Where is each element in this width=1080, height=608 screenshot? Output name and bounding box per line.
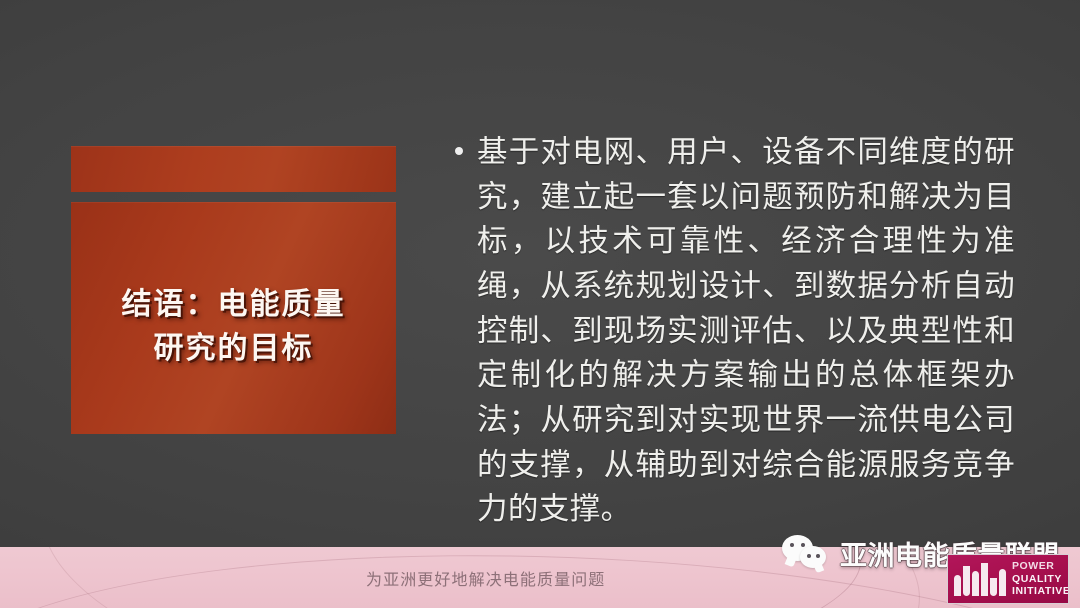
pqi-logo-wordmark: POWER QUALITY INITIATIVE — [1012, 560, 1069, 598]
presentation-slide: 结语：电能质量 研究的目标 基于对电网、用户、设备不同维度的研究，建立起一套以问… — [0, 0, 1080, 608]
slide-title: 结语：电能质量 研究的目标 — [112, 283, 356, 372]
wechat-eye — [790, 543, 794, 547]
power-quality-waveform-icon — [953, 562, 1009, 596]
bullet-dot-icon — [455, 147, 463, 155]
pqi-word-initiative: INITIATIVE — [1012, 585, 1069, 598]
wechat-eye — [816, 554, 820, 558]
wechat-eye — [801, 543, 805, 547]
title-plate: 结语：电能质量 研究的目标 — [71, 146, 396, 434]
content-bullet-block: 基于对电网、用户、设备不同维度的研究，建立起一套以问题预防和解决为目标，以技术可… — [455, 130, 1015, 532]
pqi-word-quality: QUALITY — [1012, 573, 1069, 586]
footer-tagline: 为亚洲更好地解决电能质量问题 — [366, 566, 605, 590]
wechat-bubble-small — [800, 546, 826, 568]
pqi-word-power: POWER — [1012, 560, 1069, 573]
pqi-logo-badge: POWER QUALITY INITIATIVE — [947, 554, 1069, 604]
title-plate-top-bar — [71, 146, 396, 192]
wechat-icon — [782, 533, 832, 573]
content-paragraph: 基于对电网、用户、设备不同维度的研究，建立起一套以问题预防和解决为目标，以技术可… — [477, 130, 1015, 532]
wechat-eye — [807, 554, 811, 558]
title-plate-body: 结语：电能质量 研究的目标 — [71, 202, 396, 434]
